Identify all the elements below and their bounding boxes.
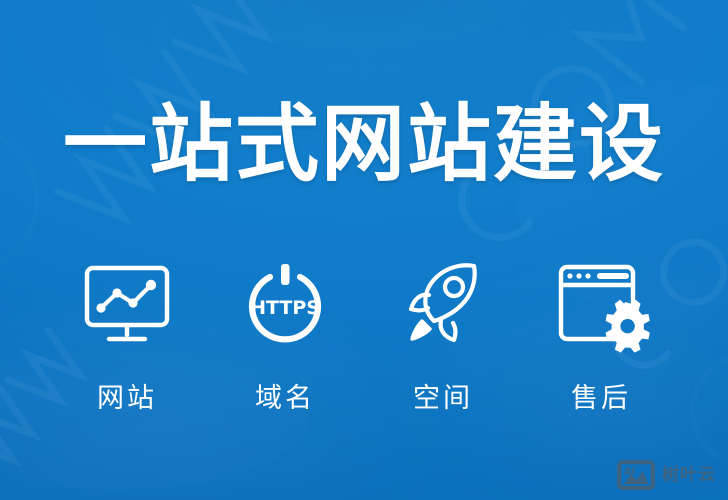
watermark-badge-text: AI xyxy=(624,467,635,478)
monitor-line-chart-icon xyxy=(81,258,173,350)
feature-list: 网站 HTTPS 域名 xyxy=(52,258,676,414)
page-title: 一站式网站建设 xyxy=(0,98,728,190)
promo-banner: 一站式网站建设 网站 xyxy=(0,0,728,500)
feature-label-space: 空间 xyxy=(413,384,473,414)
image-placeholder-icon: AI xyxy=(617,460,655,490)
watermark-badge: AI 树叶云 xyxy=(617,460,716,490)
rocket-icon xyxy=(397,258,489,350)
feature-item-support[interactable]: 售后 xyxy=(526,258,676,414)
feature-label-support: 售后 xyxy=(571,384,631,414)
feature-label-website: 网站 xyxy=(97,384,157,414)
https-power-button-icon: HTTPS xyxy=(239,258,331,350)
feature-item-website[interactable]: 网站 xyxy=(52,258,202,414)
https-icon-text: HTTPS xyxy=(250,297,320,319)
feature-item-domain[interactable]: HTTPS 域名 xyxy=(210,258,360,414)
feature-label-domain: 域名 xyxy=(255,384,315,414)
browser-window-gear-icon xyxy=(555,258,647,350)
feature-item-space[interactable]: 空间 xyxy=(368,258,518,414)
watermark-brand-text: 树叶云 xyxy=(662,466,716,484)
banner-background-sheen xyxy=(0,0,728,500)
